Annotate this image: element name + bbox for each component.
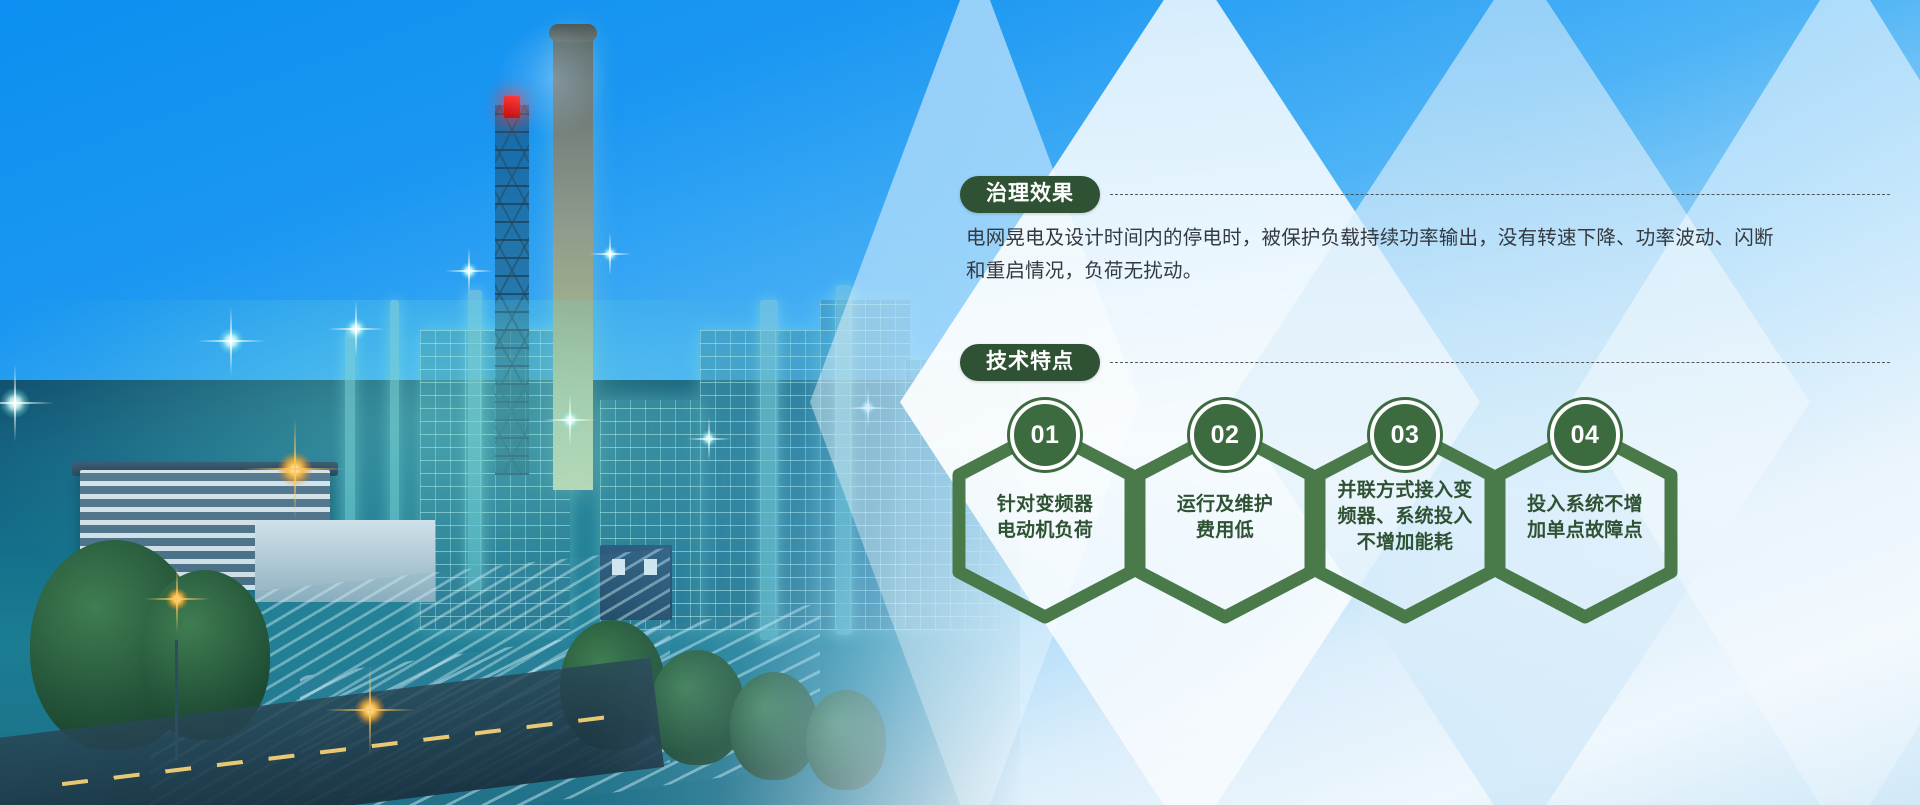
feature-card-02[interactable]: 运行及维护 费用低 02 [1125,400,1325,625]
feature-card-03[interactable]: 并联方式接入变 频器、系统投入 不增加能耗 03 [1305,400,1505,625]
feature-label-04: 投入系统不增 加单点故障点 [1485,492,1685,544]
governance-effect-body: 电网晃电及设计时间内的停电时，被保护负载持续功率输出，没有转速下降、功率波动、闪… [966,222,1786,288]
feature-number-badge-03: 03 [1370,400,1440,470]
feature-label-03: 并联方式接入变 频器、系统投入 不增加能耗 [1305,478,1505,556]
feature-number-badge-04: 04 [1550,400,1620,470]
feature-label-line: 费用低 [1125,518,1325,544]
feature-number-badge-02: 02 [1190,400,1260,470]
feature-hexagon-row: 针对变频器 电动机负荷 01 运行及维护 费用低 02 [945,400,1845,630]
feature-label-01: 针对变频器 电动机负荷 [945,492,1145,544]
banner-stage: 治理效果 电网晃电及设计时间内的停电时，被保护负载持续功率输出，没有转速下降、功… [0,0,1920,805]
section-header-technical-features: 技术特点 [960,344,1890,381]
dashed-rule [1110,194,1890,195]
feature-number-badge-01: 01 [1010,400,1080,470]
feature-card-01[interactable]: 针对变频器 电动机负荷 01 [945,400,1145,625]
feature-label-line: 并联方式接入变 [1305,478,1505,504]
feature-label-line: 针对变频器 [945,492,1145,518]
feature-label-line: 加单点故障点 [1485,518,1685,544]
section-label-technical-features: 技术特点 [960,344,1100,381]
feature-label-line: 频器、系统投入 [1305,504,1505,530]
feature-label-line: 运行及维护 [1125,492,1325,518]
section-header-governance-effect: 治理效果 [960,176,1890,213]
section-label-governance-effect: 治理效果 [960,176,1100,213]
feature-label-line: 电动机负荷 [945,518,1145,544]
feature-card-04[interactable]: 投入系统不增 加单点故障点 04 [1485,400,1685,625]
feature-label-line: 投入系统不增 [1485,492,1685,518]
dashed-rule [1110,362,1890,363]
feature-label-02: 运行及维护 费用低 [1125,492,1325,544]
banner-content: 治理效果 电网晃电及设计时间内的停电时，被保护负载持续功率输出，没有转速下降、功… [0,0,1920,805]
feature-label-line: 不增加能耗 [1305,530,1505,556]
